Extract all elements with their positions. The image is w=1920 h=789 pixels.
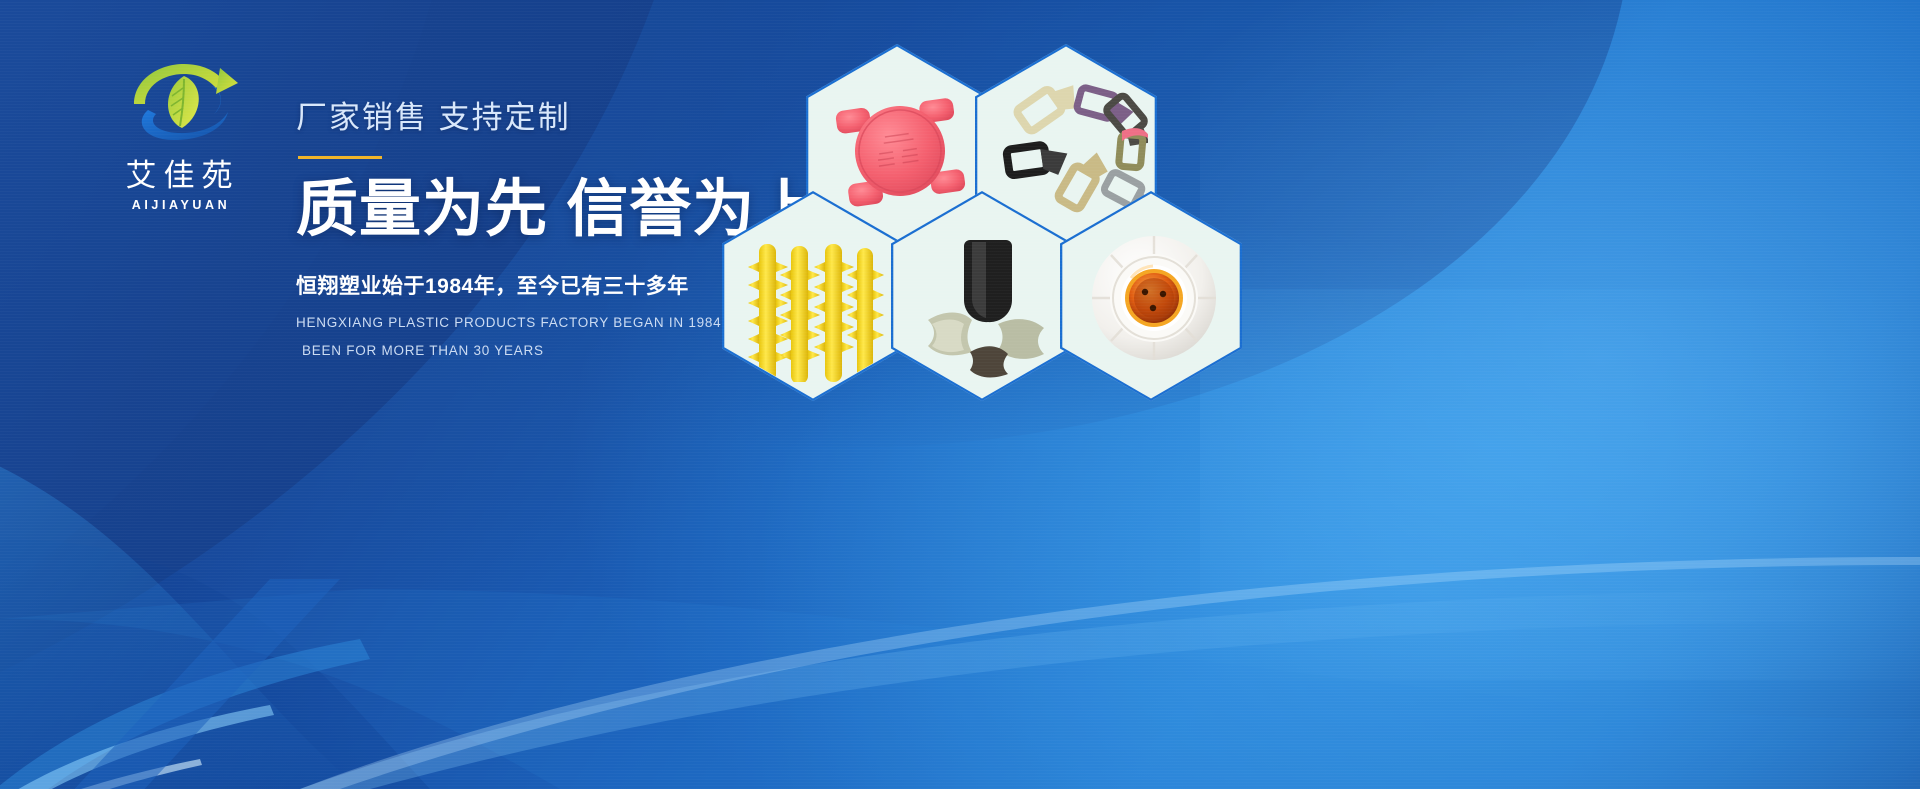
subtitle-en-line1: HENGXIANG PLASTIC PRODUCTS FACTORY BEGAN… — [296, 309, 796, 337]
subtitle-en-line2: BEEN FOR MORE THAN 30 YEARS — [296, 337, 796, 365]
background-corner-rays — [0, 509, 640, 789]
accent-divider — [298, 156, 382, 159]
white-lamp-holder-icon — [1083, 222, 1225, 374]
company-logo[interactable]: 艾佳苑 AIJIAYUAN — [84, 52, 274, 212]
promotional-banner: 艾佳苑 AIJIAYUAN 厂家销售 支持定制 质量为先 信誉为上 恒翔塑业始于… — [0, 0, 1920, 789]
pink-junction-box-icon — [833, 81, 967, 221]
subtitle-en: HENGXIANG PLASTIC PRODUCTS FACTORY BEGAN… — [296, 309, 796, 364]
leaf-arrow-logo-icon — [104, 52, 254, 152]
product-hexagon-gallery — [800, 44, 1320, 384]
yellow-wall-anchors-icon — [747, 232, 885, 382]
plastic-clips-icon — [912, 224, 1058, 379]
logo-name-en: AIJIAYUAN — [84, 198, 274, 212]
eyebrow-text: 厂家销售 支持定制 — [296, 92, 818, 137]
logo-name-cn: 艾佳苑 — [84, 150, 274, 195]
